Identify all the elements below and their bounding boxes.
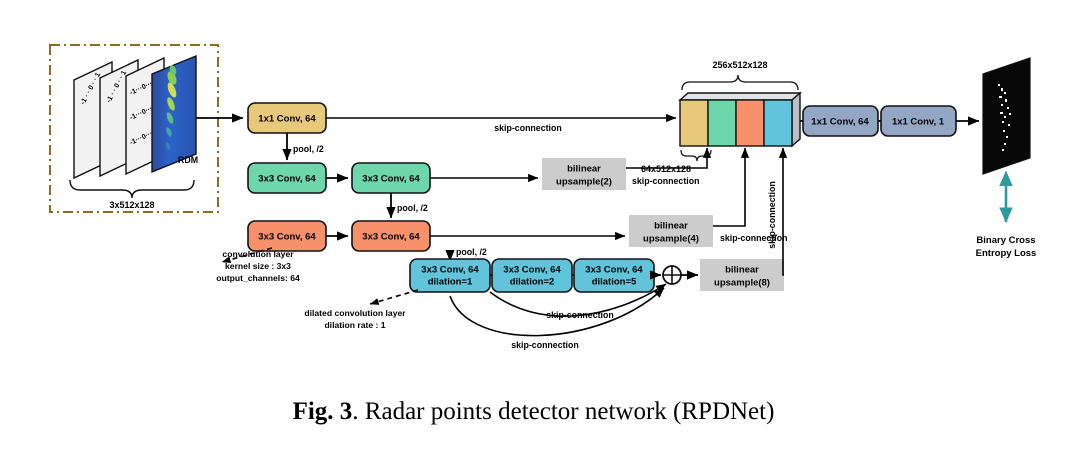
concat-top-brace bbox=[682, 75, 798, 90]
skip-up2-label: skip-connection bbox=[632, 176, 699, 186]
block-label-line1: bilinear bbox=[725, 265, 759, 276]
skip-top-label: skip-connection bbox=[494, 123, 561, 133]
sum-node bbox=[663, 266, 681, 284]
block-label: 1x1 Conv, 64 bbox=[811, 117, 869, 128]
block-dil3[interactable]: 3x3 Conv, 64 dilation=5 bbox=[574, 259, 654, 292]
block-label: 3x3 Conv, 64 bbox=[258, 232, 316, 243]
pool-label-3: pool, /2 bbox=[456, 247, 487, 257]
block-out-conv2[interactable]: 1x1 Conv, 1 bbox=[881, 106, 956, 136]
concat-slab-2 bbox=[708, 100, 736, 146]
pool-label-2: pool, /2 bbox=[397, 203, 428, 213]
block-sublabel: dilation=2 bbox=[510, 277, 555, 288]
block-label: 3x3 Conv, 64 bbox=[421, 265, 479, 276]
block-dil1[interactable]: 3x3 Conv, 64 dilation=1 bbox=[410, 259, 490, 292]
block-label: 3x3 Conv, 64 bbox=[362, 232, 420, 243]
block-label: 1x1 Conv, 64 bbox=[258, 114, 316, 125]
block-conv1x1-in[interactable]: 1x1 Conv, 64 bbox=[248, 103, 326, 133]
concat-slab-1 bbox=[680, 100, 708, 146]
concat-slab-4 bbox=[764, 100, 792, 146]
input-dim-label: 3x512x128 bbox=[109, 200, 154, 210]
network-diagram: -1 · · 0 · · 1 -1 · · 0 · · 1 -1···0···1… bbox=[0, 0, 1067, 462]
loss-label-line2: Entropy Loss bbox=[976, 248, 1037, 259]
block-upsample8[interactable]: bilinear upsample(8) bbox=[700, 259, 784, 291]
rdm-heatmap-plane: RDM bbox=[152, 56, 198, 172]
arrow-up4-to-concat bbox=[713, 148, 745, 226]
block-label-line2: upsample(8) bbox=[714, 278, 770, 289]
block-label: 3x3 Conv, 64 bbox=[362, 174, 420, 185]
skip-dil-inner-label: skip-connection bbox=[546, 310, 613, 320]
caption-prefix: Fig. 3 bbox=[293, 398, 353, 425]
block-label: 3x3 Conv, 64 bbox=[503, 265, 561, 276]
caption-text: . Radar points detector network (RPDNet) bbox=[352, 398, 774, 425]
block-label: 3x3 Conv, 64 bbox=[585, 265, 643, 276]
figure-container: -1 · · 0 · · 1 -1 · · 0 · · 1 -1···0···1… bbox=[0, 0, 1067, 462]
legend-dilated-line2: dilation rate : 1 bbox=[324, 320, 385, 330]
block-label-line2: upsample(2) bbox=[556, 177, 612, 188]
concat-top-dim: 256x512x128 bbox=[712, 60, 767, 70]
loss-label-line1: Binary Cross bbox=[976, 235, 1035, 246]
skip-up8-label: skip-connection bbox=[767, 181, 777, 248]
input-brace bbox=[70, 180, 194, 198]
concat-block bbox=[680, 93, 800, 146]
block-label-line1: bilinear bbox=[567, 164, 601, 175]
block-sublabel: dilation=5 bbox=[592, 277, 637, 288]
arrow-up8-to-concat bbox=[783, 148, 784, 275]
figure-caption: Fig. 3. Radar points detector network (R… bbox=[0, 398, 1067, 426]
legend-conv-line3: output_channels: 64 bbox=[216, 273, 300, 283]
block-out-conv1[interactable]: 1x1 Conv, 64 bbox=[803, 106, 878, 136]
skip-dil-outer-label: skip-connection bbox=[511, 340, 578, 350]
legend-conv-line1: convolution layer bbox=[222, 249, 294, 259]
block-dil2[interactable]: 3x3 Conv, 64 dilation=2 bbox=[492, 259, 572, 292]
output-result-plane bbox=[983, 58, 1030, 174]
block-conv-g1[interactable]: 3x3 Conv, 64 bbox=[248, 163, 326, 193]
rdm-label: RDM bbox=[178, 155, 198, 165]
block-conv-o2[interactable]: 3x3 Conv, 64 bbox=[352, 221, 430, 251]
legend-conv-line2: kernel size : 3x3 bbox=[225, 261, 291, 271]
block-sublabel: dilation=1 bbox=[428, 277, 473, 288]
block-conv-g2[interactable]: 3x3 Conv, 64 bbox=[352, 163, 430, 193]
block-label: 1x1 Conv, 1 bbox=[892, 117, 945, 128]
skip-up4-label: skip-connection bbox=[720, 233, 787, 243]
pool-label-1: pool, /2 bbox=[293, 144, 324, 154]
concat-slab-3 bbox=[736, 100, 764, 146]
block-upsample2[interactable]: bilinear upsample(2) bbox=[542, 158, 626, 190]
block-label: 3x3 Conv, 64 bbox=[258, 174, 316, 185]
block-label-line2: upsample(4) bbox=[643, 234, 699, 245]
legend-dilated-leader bbox=[370, 290, 418, 304]
legend-dilated-line1: dilated convolution layer bbox=[304, 308, 406, 318]
concat-slice-dim: 64x512x128 bbox=[641, 164, 691, 174]
block-label-line1: bilinear bbox=[654, 221, 688, 232]
block-conv-o1[interactable]: 3x3 Conv, 64 bbox=[248, 221, 326, 251]
block-upsample4[interactable]: bilinear upsample(4) bbox=[629, 215, 713, 247]
